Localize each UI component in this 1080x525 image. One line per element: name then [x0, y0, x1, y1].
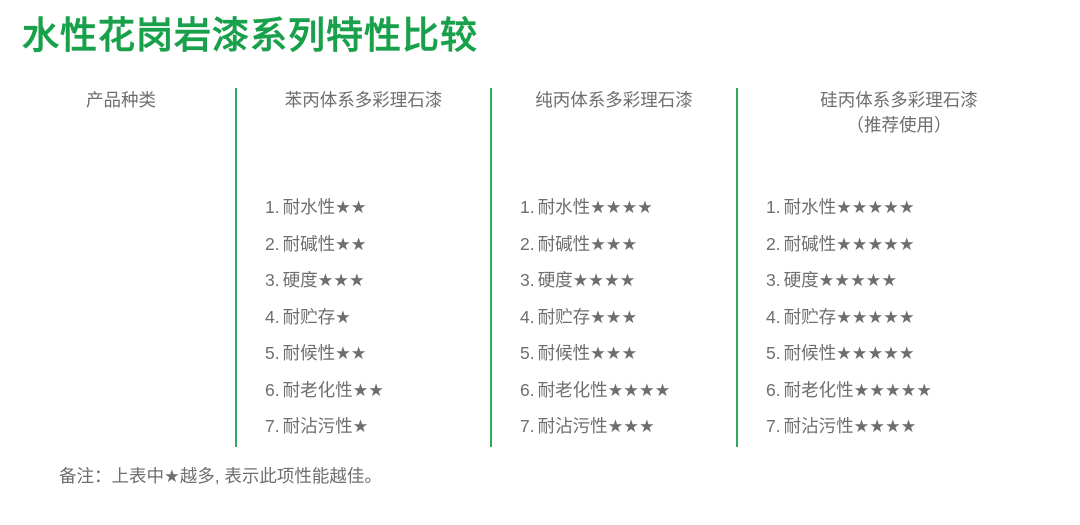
item-index: 6.: [520, 380, 535, 400]
item-label: 耐沾污性: [538, 416, 608, 436]
property-list: 1.耐水性★★ 2.耐碱性★★ 3.硬度★★★ 4.耐贮存★ 5.耐候性★★ 6…: [237, 157, 490, 445]
property-list: 1.耐水性★★★★★ 2.耐碱性★★★★★ 3.硬度★★★★★ 4.耐贮存★★★…: [738, 157, 1060, 445]
page-title: 水性花岗岩漆系列特性比较: [22, 11, 478, 61]
item-index: 3.: [520, 270, 535, 290]
item-label: 耐水性: [538, 197, 591, 217]
list-item: 7.耐沾污性★★★★: [766, 408, 1060, 445]
item-label: 耐贮存: [283, 307, 336, 327]
star-rating: ★★★: [590, 343, 637, 363]
item-label: 耐碱性: [784, 234, 837, 254]
star-rating: ★★★★★: [836, 234, 914, 254]
star-rating: ★★★★★: [836, 343, 914, 363]
item-label: 耐候性: [283, 343, 336, 363]
item-label: 耐沾污性: [784, 416, 854, 436]
item-index: 5.: [520, 343, 535, 363]
item-index: 5.: [265, 343, 280, 363]
list-item: 3.硬度★★★★: [520, 262, 736, 299]
spec-table-container: 产品种类 苯丙体系多彩理石漆 纯丙体系多彩理石漆 硅丙体系多彩理石漆 （推荐使用…: [58, 88, 1060, 447]
item-label: 耐碱性: [538, 234, 591, 254]
star-rating: ★★: [335, 234, 366, 254]
column-header-silicone-acrylic: 硅丙体系多彩理石漆 （推荐使用）: [737, 88, 1060, 157]
star-rating: ★★★★: [590, 197, 653, 217]
item-index: 3.: [766, 270, 781, 290]
table-header-row: 产品种类 苯丙体系多彩理石漆 纯丙体系多彩理石漆 硅丙体系多彩理石漆 （推荐使用…: [58, 88, 1060, 157]
spec-comparison-table: 产品种类 苯丙体系多彩理石漆 纯丙体系多彩理石漆 硅丙体系多彩理石漆 （推荐使用…: [58, 88, 1060, 447]
list-item: 1.耐水性★★: [265, 189, 490, 226]
item-label: 耐水性: [283, 197, 336, 217]
list-item: 2.耐碱性★★: [265, 226, 490, 263]
list-item: 7.耐沾污性★: [265, 408, 490, 445]
list-item: 4.耐贮存★★★★★: [766, 299, 1060, 336]
star-rating: ★★★: [590, 307, 637, 327]
item-index: 3.: [265, 270, 280, 290]
item-label: 耐候性: [784, 343, 837, 363]
item-index: 2.: [265, 234, 280, 254]
list-item: 5.耐候性★★★★★: [766, 335, 1060, 372]
star-rating: ★★: [335, 197, 366, 217]
item-label: 耐老化性: [283, 380, 353, 400]
item-label: 耐贮存: [784, 307, 837, 327]
list-item: 2.耐碱性★★★★★: [766, 226, 1060, 263]
item-label: 耐老化性: [538, 380, 608, 400]
list-item: 5.耐候性★★: [265, 335, 490, 372]
star-rating: ★★★: [590, 234, 637, 254]
star-rating: ★★: [335, 343, 366, 363]
column-header-label: 硅丙体系多彩理石漆: [820, 90, 978, 110]
list-item: 2.耐碱性★★★: [520, 226, 736, 263]
star-rating: ★★★★★: [836, 197, 914, 217]
star-rating: ★: [353, 416, 369, 436]
comparison-table-page: 水性花岗岩漆系列特性比较 产品种类 苯丙体系多彩理石漆 纯丙体系多彩理石漆: [0, 0, 1080, 525]
column-header-pure-acrylic: 纯丙体系多彩理石漆: [491, 88, 737, 157]
item-index: 1.: [265, 197, 280, 217]
table-footnote: 备注：上表中★越多, 表示此项性能越佳。: [59, 463, 382, 489]
list-item: 1.耐水性★★★★: [520, 189, 736, 226]
list-item: 6.耐老化性★★★★★: [766, 372, 1060, 409]
item-index: 4.: [265, 307, 280, 327]
item-label: 硬度: [538, 270, 573, 290]
item-label: 耐贮存: [538, 307, 591, 327]
item-label: 耐候性: [538, 343, 591, 363]
star-rating: ★★★★: [854, 416, 917, 436]
list-item: 4.耐贮存★: [265, 299, 490, 336]
item-index: 1.: [520, 197, 535, 217]
list-item: 6.耐老化性★★★★: [520, 372, 736, 409]
item-index: 4.: [766, 307, 781, 327]
star-rating: ★★★★★: [854, 380, 932, 400]
item-index: 2.: [520, 234, 535, 254]
column-header-label: 纯丙体系多彩理石漆: [535, 90, 693, 110]
item-label: 耐水性: [784, 197, 837, 217]
item-index: 5.: [766, 343, 781, 363]
table-body-row: 1.耐水性★★ 2.耐碱性★★ 3.硬度★★★ 4.耐贮存★ 5.耐候性★★ 6…: [58, 157, 1060, 447]
column-header-sublabel: （推荐使用）: [847, 115, 952, 135]
item-index: 1.: [766, 197, 781, 217]
star-rating: ★★★: [608, 416, 655, 436]
list-item: 4.耐贮存★★★: [520, 299, 736, 336]
column-header-label: 产品种类: [86, 90, 156, 110]
item-index: 7.: [265, 416, 280, 436]
item-index: 4.: [520, 307, 535, 327]
star-rating: ★★★★★: [819, 270, 897, 290]
property-list: 1.耐水性★★★★ 2.耐碱性★★★ 3.硬度★★★★ 4.耐贮存★★★ 5.耐…: [492, 157, 736, 445]
column-header-product-type: 产品种类: [58, 88, 236, 157]
item-index: 6.: [265, 380, 280, 400]
cell-silicone-acrylic-properties: 1.耐水性★★★★★ 2.耐碱性★★★★★ 3.硬度★★★★★ 4.耐贮存★★★…: [737, 157, 1060, 447]
star-rating: ★★: [353, 380, 384, 400]
cell-product-type-empty: [58, 157, 236, 447]
list-item: 7.耐沾污性★★★: [520, 408, 736, 445]
column-header-label: 苯丙体系多彩理石漆: [285, 90, 443, 110]
list-item: 3.硬度★★★: [265, 262, 490, 299]
list-item: 1.耐水性★★★★★: [766, 189, 1060, 226]
column-header-styrene-acrylic: 苯丙体系多彩理石漆: [236, 88, 491, 157]
cell-pure-acrylic-properties: 1.耐水性★★★★ 2.耐碱性★★★ 3.硬度★★★★ 4.耐贮存★★★ 5.耐…: [491, 157, 737, 447]
list-item: 5.耐候性★★★: [520, 335, 736, 372]
item-index: 6.: [766, 380, 781, 400]
cell-styrene-acrylic-properties: 1.耐水性★★ 2.耐碱性★★ 3.硬度★★★ 4.耐贮存★ 5.耐候性★★ 6…: [236, 157, 491, 447]
star-rating: ★★★★★: [836, 307, 914, 327]
star-rating: ★: [335, 307, 351, 327]
item-index: 7.: [520, 416, 535, 436]
list-item: 3.硬度★★★★★: [766, 262, 1060, 299]
item-index: 2.: [766, 234, 781, 254]
star-rating: ★★★★: [573, 270, 636, 290]
item-index: 7.: [766, 416, 781, 436]
item-label: 耐沾污性: [283, 416, 353, 436]
star-rating: ★★★: [318, 270, 365, 290]
star-rating: ★★★★: [608, 380, 671, 400]
list-item: 6.耐老化性★★: [265, 372, 490, 409]
item-label: 耐碱性: [283, 234, 336, 254]
item-label: 硬度: [784, 270, 819, 290]
item-label: 耐老化性: [784, 380, 854, 400]
item-label: 硬度: [283, 270, 318, 290]
